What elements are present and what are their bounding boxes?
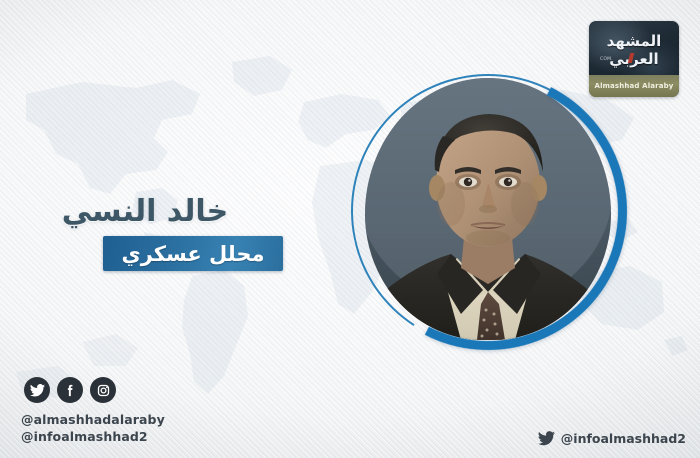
- logo-dotcom-text: COM.: [600, 57, 613, 62]
- logo-arabic-wordmark: المشهد العربي: [589, 33, 679, 68]
- twitter-icon[interactable]: [24, 377, 50, 403]
- guest-portrait: [349, 72, 627, 350]
- twitter-icon: [538, 431, 555, 446]
- footer-twitter-handle-text: @infoalmashhad2: [561, 431, 686, 446]
- handle-secondary: @infoalmashhad2: [21, 428, 165, 445]
- guest-title-badge: محلل عسكري: [103, 236, 283, 271]
- guest-card-graphic: المشهد العربي COM. Almashhad Alaraby: [0, 0, 700, 458]
- social-handles: @almashhadalaraby @infoalmashhad2: [21, 411, 165, 445]
- facebook-icon[interactable]: [57, 377, 83, 403]
- guest-name: خالد النسي: [0, 193, 290, 231]
- handle-primary: @almashhadalaraby: [21, 411, 165, 428]
- logo-arabic-line1: المشهد: [607, 32, 662, 50]
- social-icon-row: [24, 377, 116, 403]
- instagram-icon[interactable]: [90, 377, 116, 403]
- guest-title-label: محلل عسكري: [121, 242, 264, 266]
- footer-twitter-handle: @infoalmashhad2: [538, 431, 686, 446]
